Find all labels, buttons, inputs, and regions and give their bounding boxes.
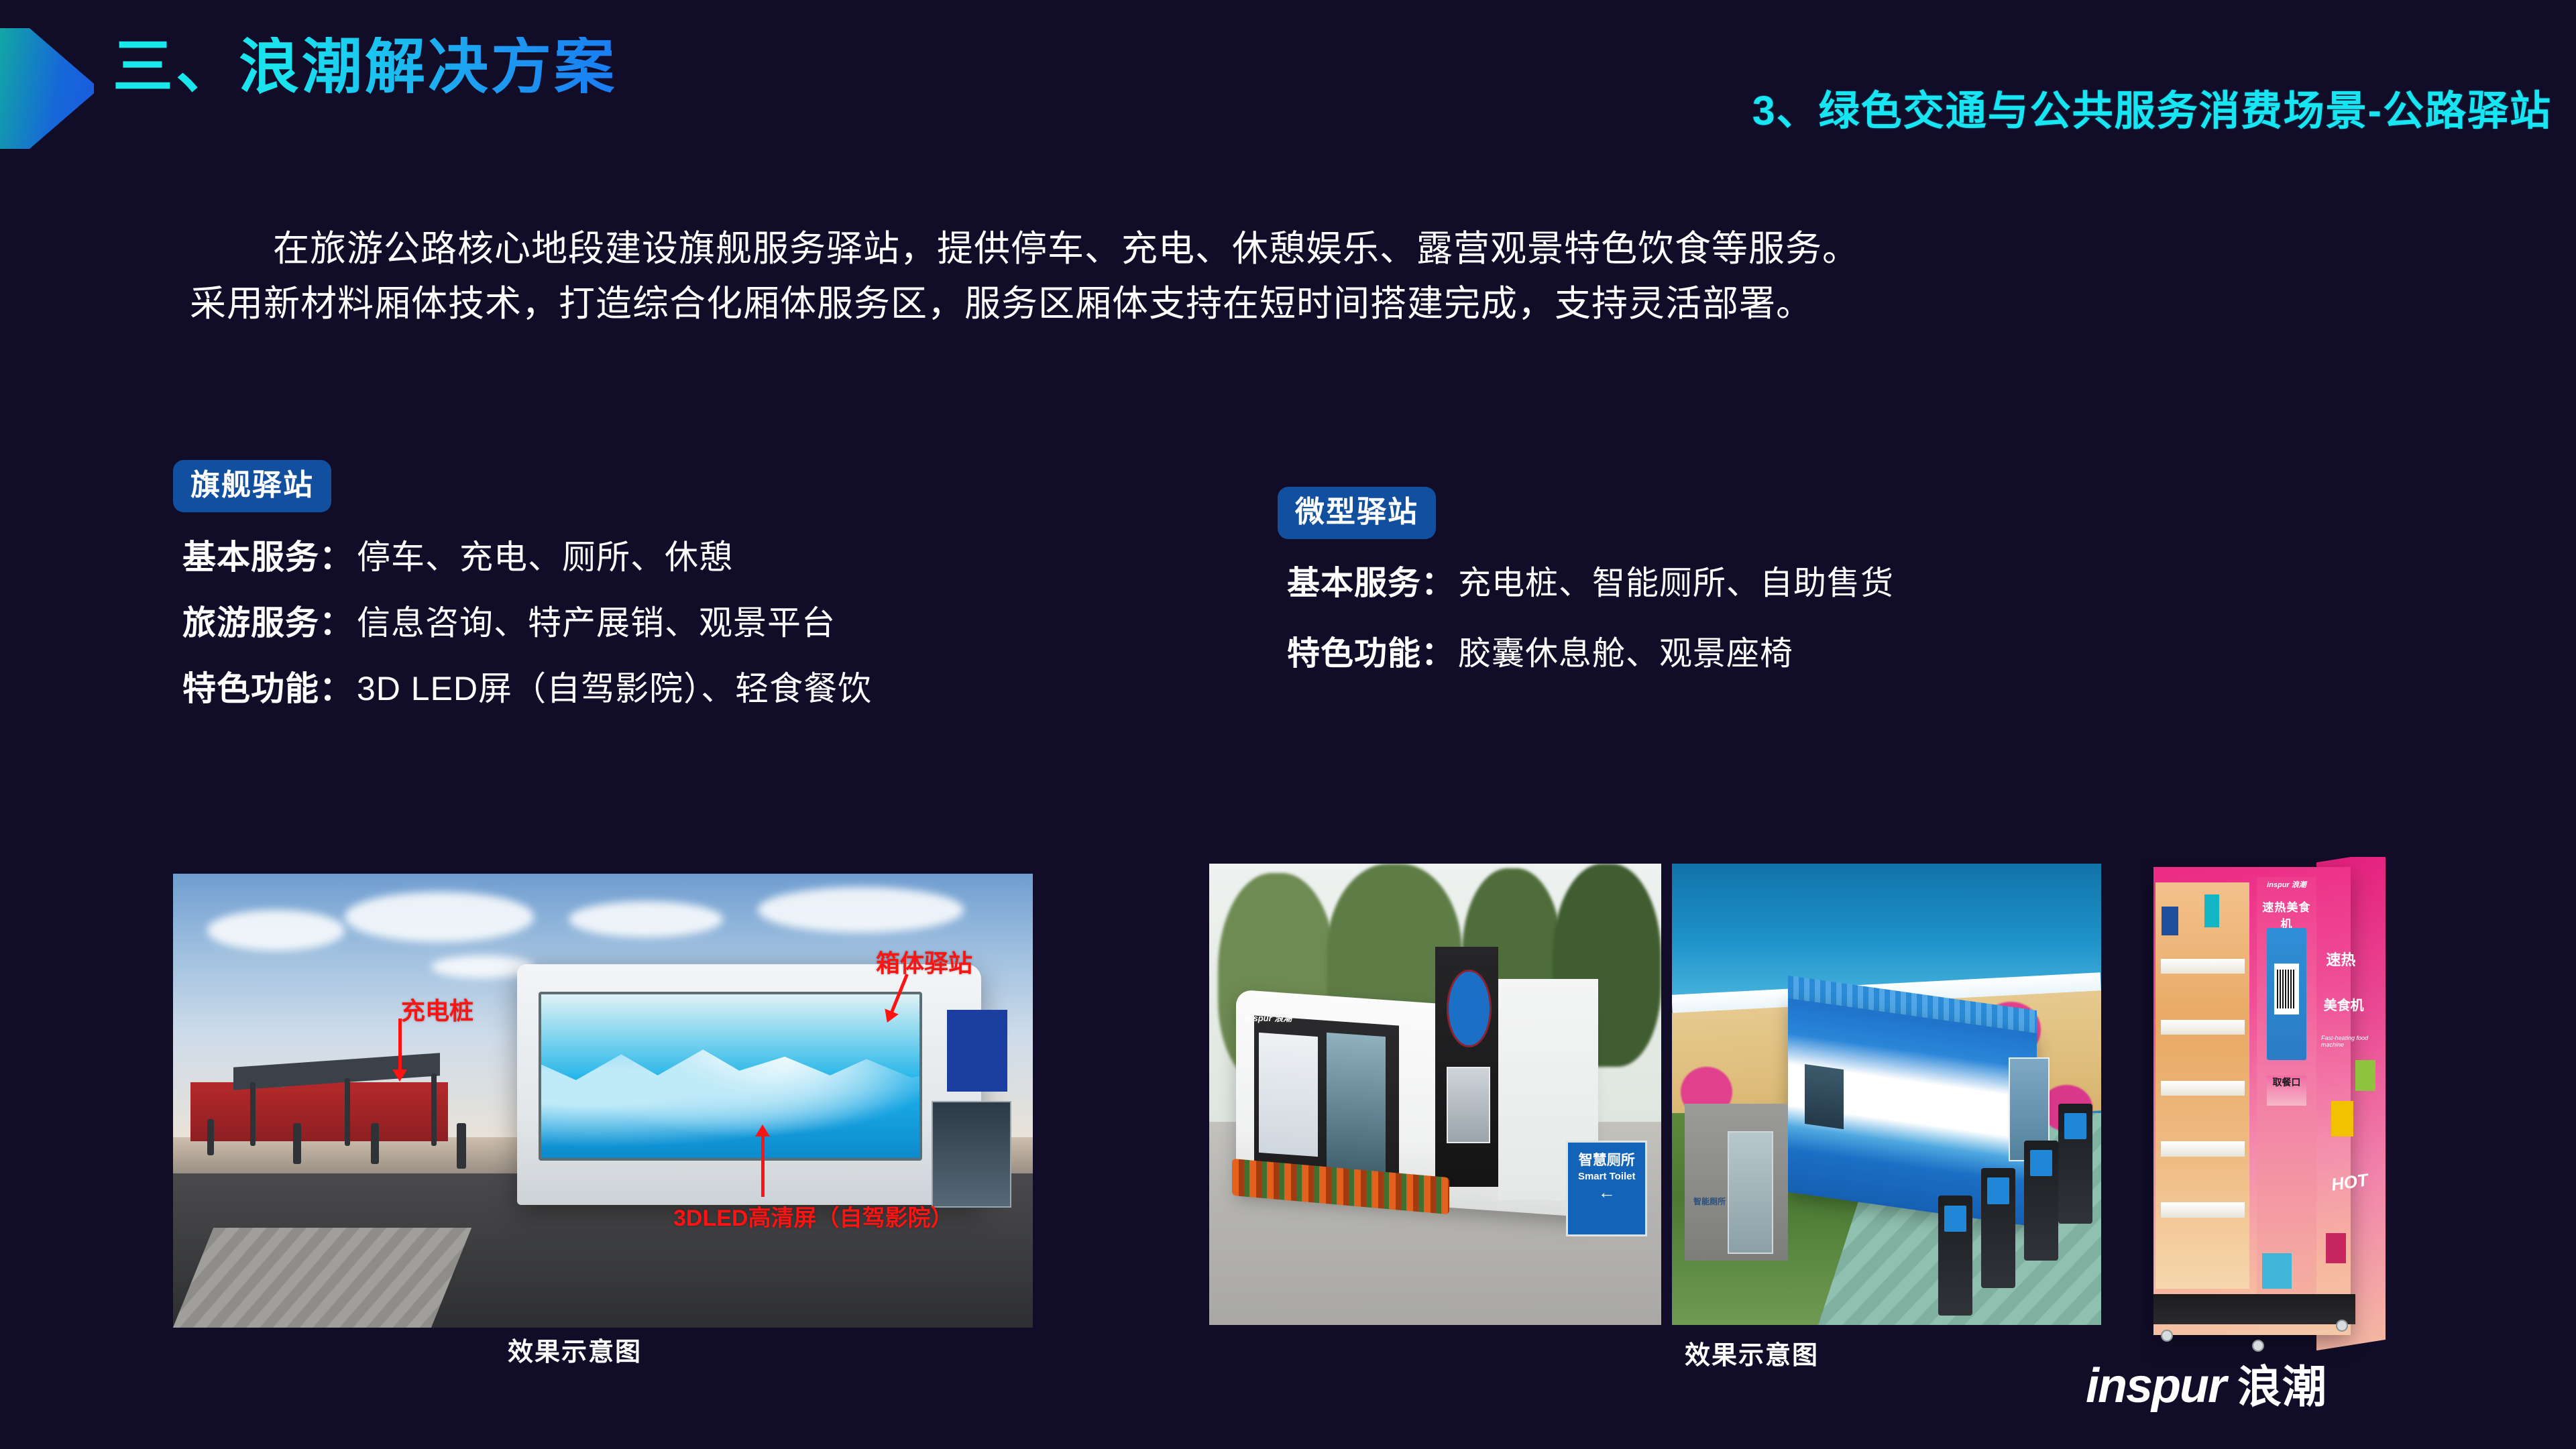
decor-square — [2326, 1233, 2345, 1263]
product-shelf — [2161, 959, 2245, 974]
product-shelf — [2161, 1202, 2245, 1218]
charging-post — [207, 1119, 214, 1155]
list-item: 特色功能 ： 胶囊休息舱、观景座椅 — [1287, 638, 2351, 671]
logo-text-cn: 浪潮 — [2237, 1362, 2327, 1411]
intro-line-1: 在旅游公路核心地段建设旗舰服务驿站，提供停车、充电、休憩娱乐、露营观景特色饮食等… — [190, 221, 2396, 276]
bullet-value: 3D LED屏（自驾影院）、轻食餐饮 — [357, 672, 872, 705]
canopy-pillar — [431, 1074, 437, 1146]
qr-code-icon — [2274, 964, 2299, 1015]
charging-post — [293, 1123, 301, 1164]
annotation-arrow-up-icon — [761, 1135, 765, 1197]
charger-screen — [2030, 1150, 2052, 1176]
machine-base — [2153, 1294, 2356, 1324]
product-shelf — [2161, 1020, 2245, 1035]
decor-square — [2262, 1253, 2292, 1289]
bullet-separator: ： — [319, 672, 353, 705]
kiosk-label: 智能厕所 — [1693, 1196, 1726, 1207]
decor-square — [2331, 1101, 2353, 1137]
annotation-led-screen: 3DLED高清屏（自驾影院） — [673, 1200, 953, 1232]
decor-square — [2204, 894, 2219, 927]
decor-square — [2355, 1060, 2375, 1090]
page-title: 三、浪潮解决方案 — [113, 37, 617, 97]
charging-post — [371, 1123, 379, 1164]
page-subtitle: 3、绿色交通与公共服务消费场景-公路驿站 — [1752, 77, 2552, 137]
caption-right-figures: 效果示意图 — [1685, 1334, 1819, 1371]
product-shelf — [2161, 1141, 2245, 1157]
container-window — [1805, 1064, 1844, 1130]
slide-root: 三、浪潮解决方案 3、绿色交通与公共服务消费场景-公路驿站 在旅游公路核心地段建… — [0, 0, 2576, 1449]
wave-graphic — [539, 1040, 922, 1157]
pillar-window — [1447, 1067, 1490, 1143]
chevron-decor-icon — [0, 28, 94, 149]
bullet-separator: ： — [1421, 638, 1454, 671]
ev-charger — [2058, 1104, 2092, 1224]
charging-post — [457, 1123, 466, 1169]
cloud-shape — [207, 910, 345, 951]
sign-label-cn: 智慧厕所 — [1568, 1149, 1645, 1169]
bullet-key: 特色功能 — [1287, 638, 1421, 671]
toilet-symbol-icon — [1447, 970, 1492, 1047]
bullet-separator: ： — [319, 540, 353, 574]
bullet-separator: ： — [319, 606, 353, 640]
product-shelf — [2161, 1081, 2245, 1096]
annotation-charging-pile: 充电桩 — [401, 992, 473, 1027]
charger-screen — [2064, 1113, 2086, 1139]
decor-square — [2162, 907, 2178, 935]
cloud-shape — [569, 901, 724, 937]
kiosk-glass-door — [1728, 1131, 1773, 1254]
intro-paragraph: 在旅游公路核心地段建设旗舰服务驿站，提供停车、充电、休憩娱乐、露营观景特色饮食等… — [190, 221, 2396, 331]
bullet-value: 停车、充电、厕所、休憩 — [357, 540, 733, 574]
paved-walkway — [173, 1228, 471, 1328]
side-label-english: Fast-heating food machine — [2321, 1035, 2390, 1048]
charger-screen — [1944, 1206, 1966, 1232]
left-arrow-icon: ← — [1568, 1183, 1645, 1201]
entrance-glass-door — [932, 1101, 1011, 1208]
bullet-key: 旅游服务 — [182, 606, 319, 640]
bullet-key: 基本服务 — [182, 540, 319, 574]
inspur-brand-mark: inspur 浪潮 — [1245, 1011, 1292, 1024]
sign-label-en: Smart Toilet — [1568, 1171, 1645, 1182]
canopy-pillar — [345, 1078, 350, 1147]
annotation-arrow-down-icon — [398, 1019, 402, 1071]
bullet-separator: ： — [1421, 567, 1454, 600]
caster-wheel — [2252, 1340, 2264, 1352]
bullet-value: 胶囊休息舱、观景座椅 — [1458, 638, 1793, 671]
canopy-pillar — [250, 1082, 256, 1146]
glass-entry-door — [1327, 1032, 1386, 1175]
ev-charger — [1938, 1196, 1972, 1316]
side-label-primary: 速热 — [2326, 948, 2355, 970]
badge-micro-station: 微型驿站 — [1278, 487, 1436, 539]
list-item: 特色功能 ： 3D LED屏（自驾影院）、轻食餐饮 — [182, 672, 1219, 705]
swap-station-building — [190, 1082, 449, 1141]
qr-pattern — [2277, 970, 2296, 1008]
caster-wheel — [2161, 1330, 2173, 1342]
bullet-key: 基本服务 — [1287, 567, 1421, 600]
panel-flagship-station: 旗舰驿站 基本服务 ： 停车、充电、厕所、休憩 旅游服务 ： 信息咨询、特产展销… — [173, 460, 1219, 738]
cloud-shape — [345, 892, 534, 941]
annotation-container-station: 箱体驿站 — [876, 944, 972, 979]
bullet-value: 信息咨询、特产展销、观景平台 — [357, 606, 836, 640]
list-item: 基本服务 ： 停车、充电、厕所、休憩 — [182, 540, 1219, 574]
pickup-slot[interactable]: 取餐口 — [2267, 1076, 2306, 1106]
intro-line-2: 采用新材料厢体技术，打造综合化厢体服务区，服务区厢体支持在短时间搭建完成，支持灵… — [190, 276, 2396, 331]
logo-text-en: inspur — [2086, 1359, 2225, 1413]
inspur-brand-mark: inspur 浪潮 — [2259, 879, 2314, 890]
panel-micro-station: 微型驿站 基本服务 ： 充电桩、智能厕所、自助售货 特色功能 ： 胶囊休息舱、观… — [1278, 487, 2351, 708]
bullet-list-micro: 基本服务 ： 充电桩、智能厕所、自助售货 特色功能 ： 胶囊休息舱、观景座椅 — [1278, 567, 2351, 671]
figure-flagship-rendering: 换电站 充电桩 箱体驿站 3DLED高清屏（自驾影院） — [173, 874, 1033, 1328]
bullet-list-flagship: 基本服务 ： 停车、充电、厕所、休憩 旅游服务 ： 信息咨询、特产展销、观景平台… — [173, 540, 1219, 705]
inspur-logo: inspur浪潮 — [2086, 1351, 2327, 1415]
caption-left-figure: 效果示意图 — [508, 1331, 642, 1368]
cloud-shape — [758, 887, 964, 933]
machine-title: 速热美食机 — [2259, 898, 2314, 931]
blue-accent-panel — [947, 1010, 1007, 1092]
photo-smart-toilet-station: 智慧厕所 Smart Toilet ← inspur 浪潮 — [1209, 864, 1661, 1325]
caster-wheel — [2336, 1320, 2348, 1332]
photo-vending-machine: inspur 浪潮 速热美食机 取餐口 速热 美食机 Fast-heating … — [2143, 857, 2390, 1365]
ev-charger — [2024, 1141, 2058, 1261]
led-screen — [539, 992, 922, 1161]
bullet-value: 充电桩、智能厕所、自助售货 — [1458, 567, 1894, 600]
photo-beach-container-station: 智能厕所 — [1672, 864, 2101, 1325]
badge-flagship-station: 旗舰驿站 — [173, 460, 331, 512]
side-label-secondary: 美食机 — [2324, 994, 2364, 1014]
charger-screen — [1987, 1177, 2009, 1204]
list-item: 基本服务 ： 充电桩、智能厕所、自助售货 — [1287, 567, 2351, 600]
bullet-key: 特色功能 — [182, 672, 319, 705]
pickup-slot-label: 取餐口 — [2272, 1077, 2300, 1088]
info-display-panel — [1259, 1032, 1318, 1156]
smart-toilet-sign: 智慧厕所 Smart Toilet ← — [1566, 1141, 1647, 1237]
list-item: 旅游服务 ： 信息咨询、特产展销、观景平台 — [182, 606, 1219, 640]
ev-charger — [1981, 1168, 2015, 1288]
